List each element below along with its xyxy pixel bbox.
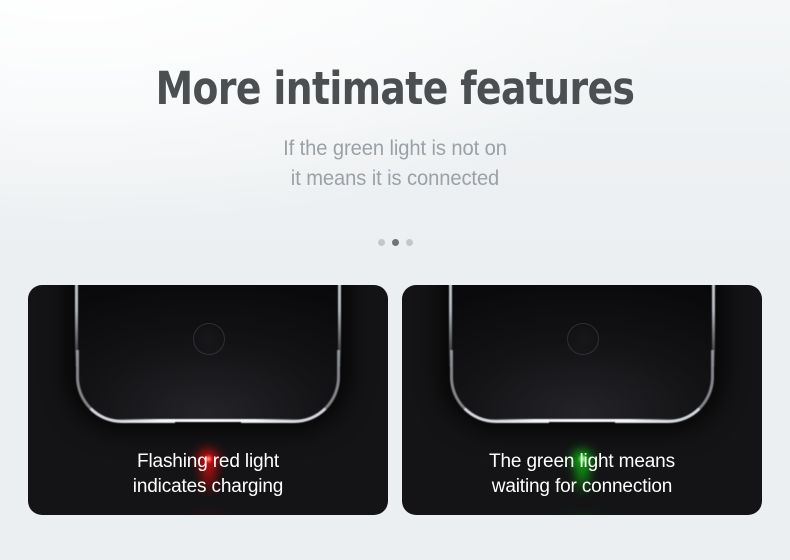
device-sensor-ring-icon bbox=[193, 323, 225, 355]
pagination-dot-1[interactable] bbox=[378, 239, 385, 246]
device-bottom-left-corner-highlight bbox=[76, 350, 175, 423]
device-photo-waiting bbox=[450, 285, 714, 421]
feature-card-waiting[interactable]: The green light means waiting for connec… bbox=[402, 285, 762, 515]
pagination-dot-3[interactable] bbox=[406, 239, 413, 246]
feature-card-charging[interactable]: Flashing red light indicates charging bbox=[28, 285, 388, 515]
feature-panel: More intimate features If the green ligh… bbox=[0, 0, 790, 560]
card-caption-charging: Flashing red light indicates charging bbox=[28, 449, 388, 499]
subtitle-line-2: it means it is connected bbox=[16, 164, 774, 194]
device-sensor-ring-icon bbox=[567, 323, 599, 355]
caption-line-1: Flashing red light bbox=[28, 449, 388, 474]
device-bottom-right-corner-highlight bbox=[615, 350, 714, 423]
device-bottom-left-corner-highlight bbox=[450, 350, 549, 423]
page-title: More intimate features bbox=[28, 0, 763, 116]
caption-line-1: The green light means bbox=[402, 449, 762, 474]
caption-line-2: waiting for connection bbox=[402, 474, 762, 499]
device-bottom-right-corner-highlight bbox=[241, 350, 340, 423]
feature-card-list: Flashing red light indicates charging bbox=[28, 285, 762, 515]
device-bottom-edge-highlight bbox=[484, 419, 680, 422]
pagination-dot-2-active[interactable] bbox=[392, 239, 399, 246]
device-bottom-edge-highlight bbox=[110, 419, 306, 422]
page-subtitle: If the green light is not on it means it… bbox=[16, 116, 774, 194]
header: More intimate features If the green ligh… bbox=[0, 0, 790, 194]
subtitle-line-1: If the green light is not on bbox=[16, 134, 774, 164]
device-photo-charging bbox=[76, 285, 340, 421]
caption-line-2: indicates charging bbox=[28, 474, 388, 499]
card-caption-waiting: The green light means waiting for connec… bbox=[402, 449, 762, 499]
pagination-dots[interactable] bbox=[0, 239, 790, 246]
